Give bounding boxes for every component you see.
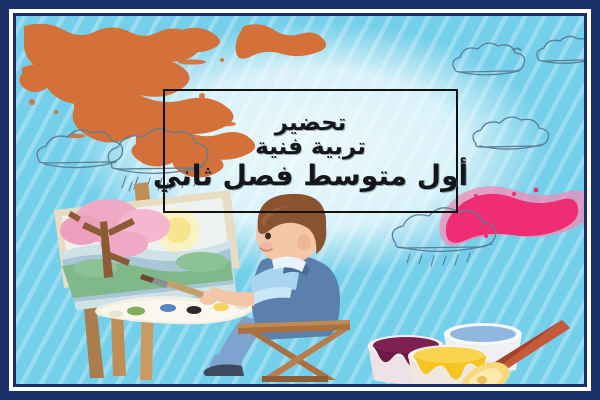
- poster-root: تحضير تربية فنية أول متوسط فصل ثاني: [0, 0, 600, 400]
- title-line-3: أول متوسط فصل ثاني: [153, 162, 468, 191]
- title-line-1: تحضير: [275, 112, 347, 135]
- folding-stool: [238, 320, 350, 382]
- title-box: تحضير تربية فنية أول متوسط فصل ثاني: [163, 89, 458, 213]
- poster-scene: تحضير تربية فنية أول متوسط فصل ثاني: [16, 16, 584, 384]
- title-line-2: تربية فنية: [255, 136, 366, 159]
